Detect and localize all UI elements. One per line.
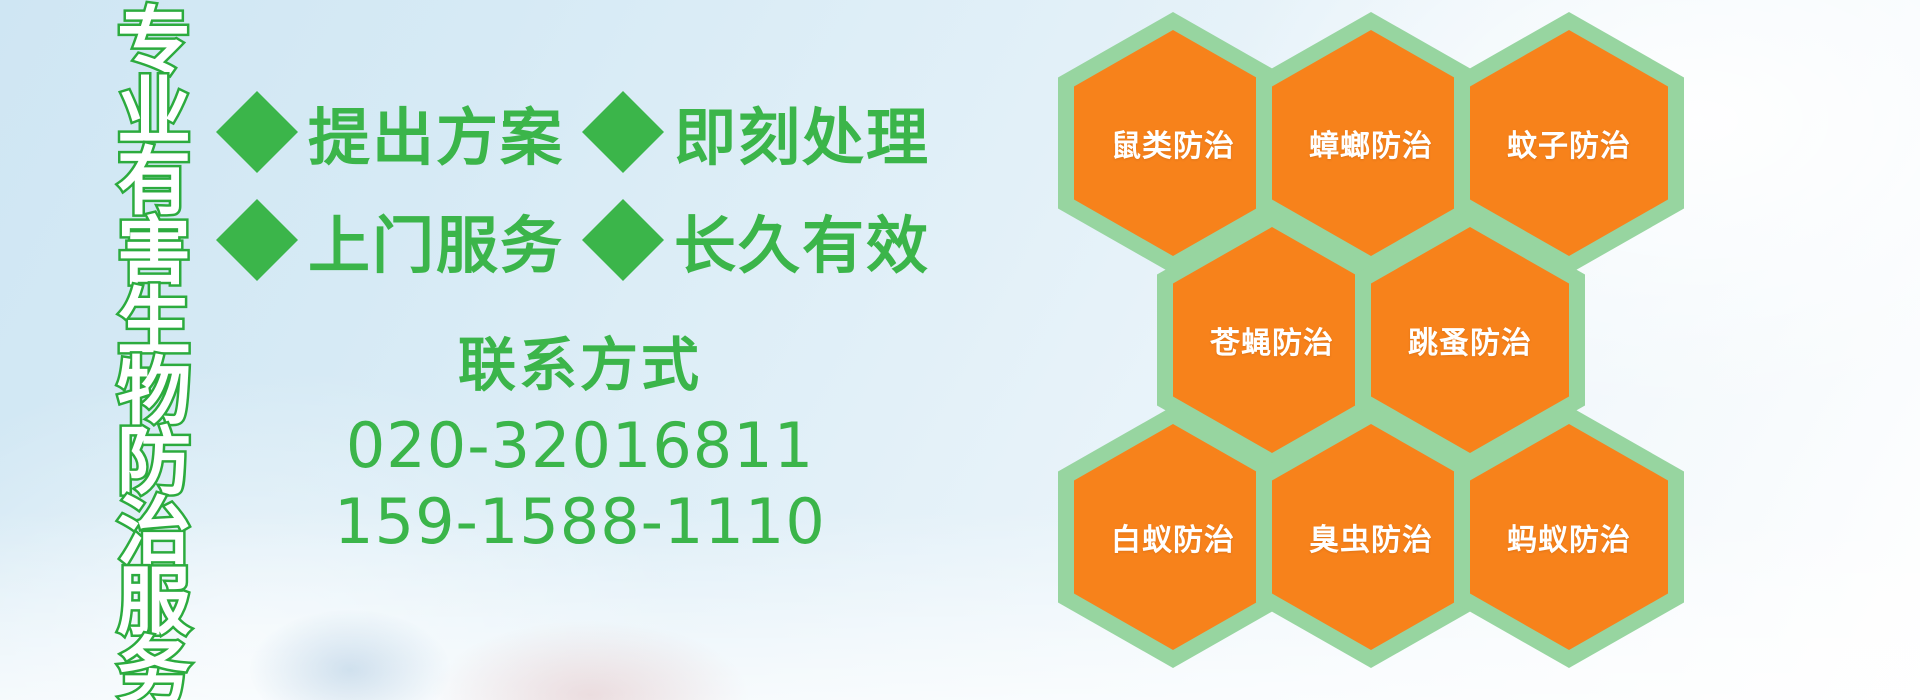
service-hex-inner: 鼠类防治 [1074,30,1272,256]
service-hex-label: 鼠类防治 [1111,121,1235,165]
feature-row: 提出方案 即刻处理 [228,78,868,186]
service-hex-inner: 跳蚤防治 [1371,227,1569,453]
background-blob-pink [430,620,750,700]
phone-number-landline[interactable]: 020-32016811 [300,408,860,484]
service-hex-inner: 苍蝇防治 [1173,227,1371,453]
service-hex-label: 跳蚤防治 [1408,318,1532,362]
vertical-headline-char: 业 [117,76,191,146]
vertical-headline-char: 害 [117,216,191,286]
vertical-headline: 专 业 有 害 生 物 防 治 服 务 [108,6,200,700]
feature-label: 提出方案 [308,87,564,177]
feature-label: 上门服务 [308,195,564,285]
vertical-headline-char: 防 [117,426,191,496]
contact-title: 联系方式 [300,318,860,402]
diamond-icon [216,91,298,173]
service-hex-label: 臭虫防治 [1309,515,1433,559]
service-hex-inner: 白蚁防治 [1074,424,1272,650]
vertical-headline-char: 有 [117,146,191,216]
service-hex-inner: 臭虫防治 [1272,424,1470,650]
vertical-headline-char: 治 [117,496,191,566]
background-blob-blue [250,610,450,700]
service-hex-inner: 蟑螂防治 [1272,30,1470,256]
vertical-headline-char: 服 [117,566,191,636]
service-hex-inner: 蚂蚁防治 [1470,424,1668,650]
promo-banner: 专 业 有 害 生 物 防 治 服 务 提出方案 即刻处理 上门服务 长久有效 … [0,0,1920,700]
service-hex-label: 蟑螂防治 [1309,121,1433,165]
contact-block: 联系方式 020-32016811 159-1588-1110 [300,318,860,559]
feature-row: 上门服务 长久有效 [228,186,868,294]
service-hex-label: 蚊子防治 [1507,121,1631,165]
service-hex-inner: 蚊子防治 [1470,30,1668,256]
vertical-headline-char: 专 [117,6,191,76]
service-honeycomb: 鼠类防治 蟑螂防治 蚊子防治 苍蝇防治 跳蚤防治 白蚁防 [860,0,1920,700]
feature-list: 提出方案 即刻处理 上门服务 长久有效 [228,78,868,294]
vertical-headline-char: 物 [117,356,191,426]
diamond-icon [582,199,664,281]
diamond-icon [216,199,298,281]
vertical-headline-char: 务 [117,636,191,700]
service-hex-label: 苍蝇防治 [1210,318,1334,362]
service-hex-label: 白蚁防治 [1111,515,1235,559]
service-hex-label: 蚂蚁防治 [1507,515,1631,559]
vertical-headline-char: 生 [117,286,191,356]
phone-number-mobile[interactable]: 159-1588-1110 [300,484,860,560]
diamond-icon [582,91,664,173]
